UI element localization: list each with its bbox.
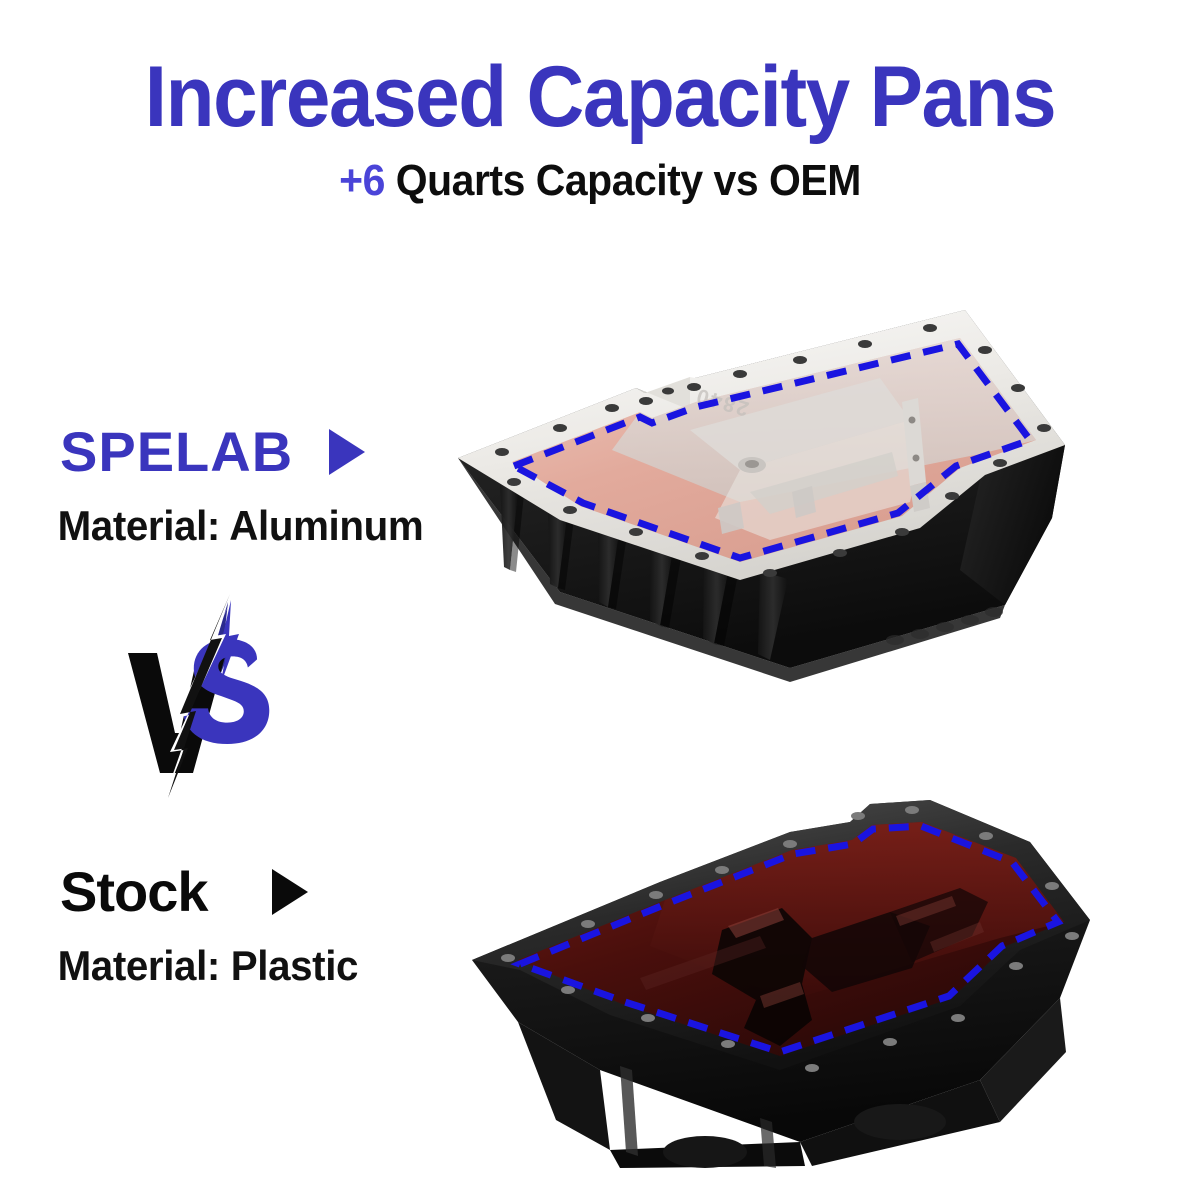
spelab-brand-name: SPELAB (60, 424, 293, 480)
stock-plastic-pan-image (460, 770, 1100, 1170)
page-title: Increased Capacity Pans (42, 0, 1158, 142)
spelab-material-text: Material: Aluminum (0, 502, 451, 550)
spelab-aluminum-pan-image: 2840 (440, 270, 1080, 720)
subtitle-rest: Quarts Capacity vs OEM (385, 156, 861, 205)
triangle-right-icon (272, 869, 308, 915)
spelab-brand-row: SPELAB (0, 424, 470, 480)
spelab-label-block: SPELAB Material: Aluminum (0, 424, 470, 550)
versus-badge (110, 590, 310, 805)
stock-label-block: Stock Material: Plastic (0, 864, 470, 990)
page-subtitle: +6 Quarts Capacity vs OEM (42, 142, 1158, 206)
versus-lightning-graphic (110, 590, 310, 805)
triangle-right-icon (329, 429, 365, 475)
header: Increased Capacity Pans +6 Quarts Capaci… (0, 0, 1200, 206)
stock-material-text: Material: Plastic (0, 942, 451, 990)
subtitle-accent: +6 (339, 156, 385, 205)
stock-brand-row: Stock (0, 864, 470, 920)
stock-brand-name: Stock (60, 864, 208, 920)
